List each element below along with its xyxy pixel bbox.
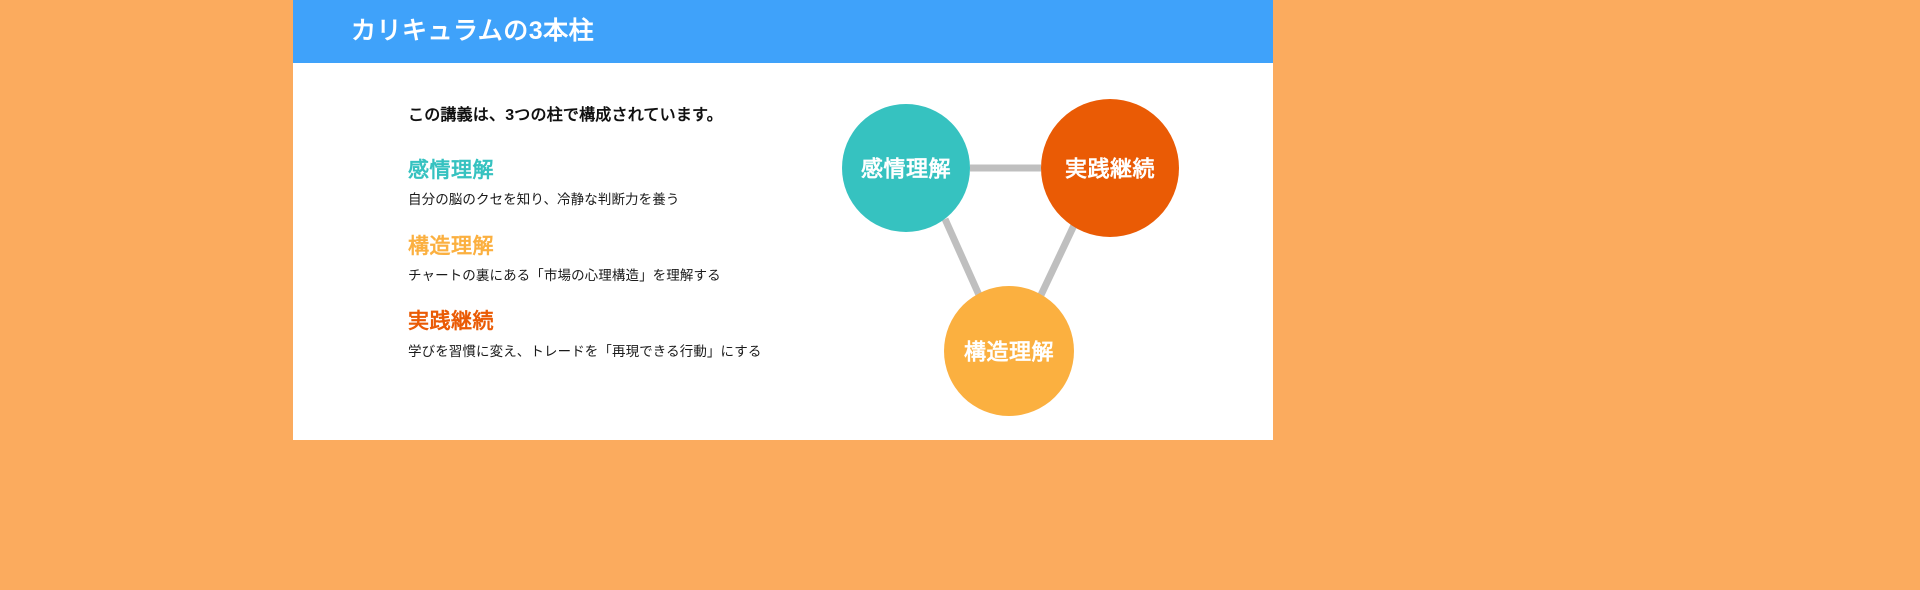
pillar-item-practice: 実践継続 学びを習慣に変え、トレードを「再現できる行動」にする <box>408 310 828 360</box>
diagram-node-practice: 実践継続 <box>1041 99 1179 237</box>
slide-body: この講義は、3つの柱で構成されています。 感情理解 自分の脳のクセを知り、冷静な… <box>293 63 1273 440</box>
pillar-description-emotion: 自分の脳のクセを知り、冷静な判断力を養う <box>408 191 828 209</box>
diagram-node-structure: 構造理解 <box>944 286 1074 416</box>
intro-text: この講義は、3つの柱で構成されています。 <box>408 101 828 125</box>
triad-diagram: 感情理解 実践継続 構造理解 <box>793 63 1273 440</box>
pillar-title-structure: 構造理解 <box>408 235 828 259</box>
node-label-emotion: 感情理解 <box>861 157 951 182</box>
pillar-description-structure: チャートの裏にある「市場の心理構造」を理解する <box>408 267 828 285</box>
connector-practice-structure <box>1041 221 1076 295</box>
pillar-title-emotion: 感情理解 <box>408 159 828 183</box>
pillar-item-emotion: 感情理解 自分の脳のクセを知り、冷静な判断力を養う <box>408 159 828 209</box>
slide-card: カリキュラムの3本柱 この講義は、3つの柱で構成されています。 感情理解 自分の… <box>293 0 1273 440</box>
slide-header-bar: カリキュラムの3本柱 <box>293 0 1273 63</box>
diagram-node-emotion: 感情理解 <box>842 104 970 232</box>
pillar-description-practice: 学びを習慣に変え、トレードを「再現できる行動」にする <box>408 343 828 361</box>
connector-emotion-structure <box>945 219 979 295</box>
pillar-title-practice: 実践継続 <box>408 310 828 334</box>
page-title: カリキュラムの3本柱 <box>351 0 594 63</box>
node-label-structure: 構造理解 <box>964 340 1054 365</box>
pillar-item-structure: 構造理解 チャートの裏にある「市場の心理構造」を理解する <box>408 235 828 285</box>
node-label-practice: 実践継続 <box>1065 157 1155 182</box>
pillars-column: この講義は、3つの柱で構成されています。 感情理解 自分の脳のクセを知り、冷静な… <box>408 101 828 360</box>
